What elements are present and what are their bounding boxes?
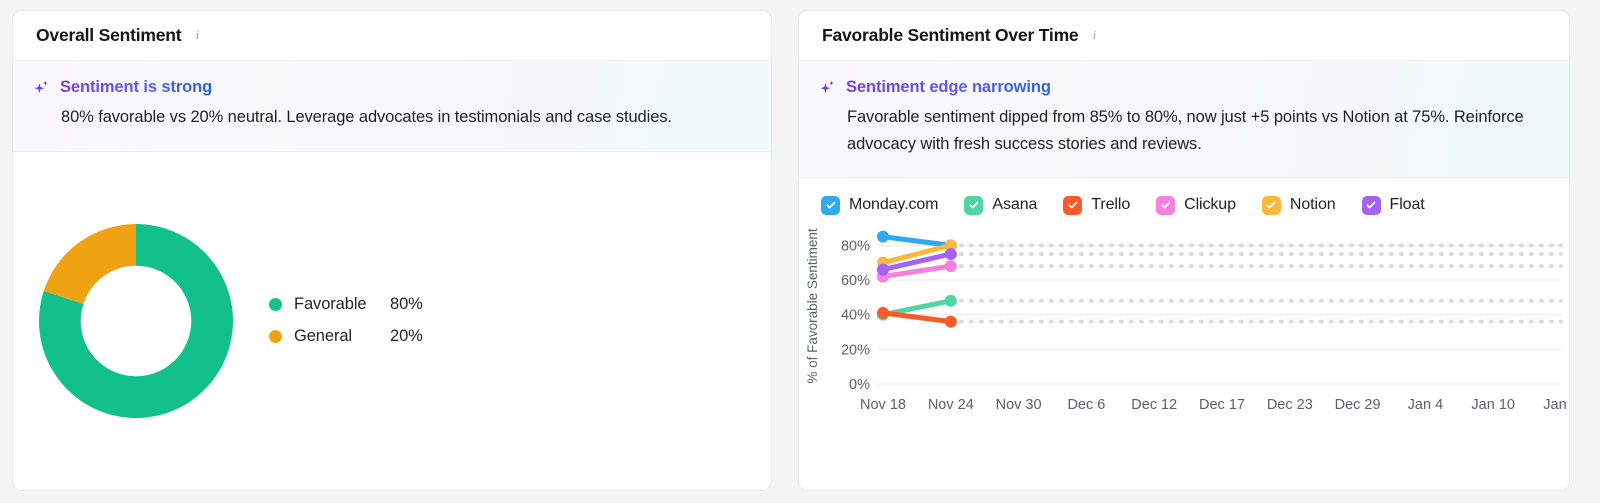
dashboard-page: Overall Sentiment i Sentiment is strong … bbox=[0, 0, 1600, 503]
x-tick-label: Nov 18 bbox=[860, 397, 906, 413]
checkbox-icon[interactable] bbox=[1362, 196, 1381, 215]
donut-chart[interactable] bbox=[39, 224, 233, 418]
sparkle-icon bbox=[819, 80, 836, 100]
y-axis-label: % of Favorable Sentiment bbox=[805, 229, 820, 385]
series-clickup[interactable] bbox=[877, 261, 1561, 283]
x-tick-label: Dec 23 bbox=[1267, 397, 1313, 413]
line-chart-area: Monday.comAsanaTrelloClickupNotionFloat … bbox=[799, 178, 1569, 490]
insight-body: Sentiment edge narrowing Favorable senti… bbox=[846, 78, 1546, 157]
series-trello[interactable] bbox=[877, 307, 1561, 328]
x-tick-label: Jan 10 bbox=[1471, 397, 1515, 413]
legend-label: Trello bbox=[1091, 196, 1130, 214]
x-tick-label: Jan 4 bbox=[1408, 397, 1443, 413]
legend-swatch-favorable bbox=[269, 298, 282, 311]
info-icon[interactable]: i bbox=[1087, 28, 1101, 42]
legend-item-float[interactable]: Float bbox=[1362, 196, 1425, 215]
insight-text: 80% favorable vs 20% neutral. Leverage a… bbox=[60, 104, 748, 131]
legend-item-clickup[interactable]: Clickup bbox=[1156, 196, 1236, 215]
insight-body: Sentiment is strong 80% favorable vs 20%… bbox=[60, 78, 748, 131]
legend-item-monday-com[interactable]: Monday.com bbox=[821, 196, 938, 215]
x-tick-label: Dec 12 bbox=[1131, 397, 1177, 413]
insight-banner-favorable: Sentiment edge narrowing Favorable senti… bbox=[799, 61, 1569, 178]
favorable-sentiment-over-time-card: Favorable Sentiment Over Time i Sentimen… bbox=[798, 10, 1570, 491]
series-asana[interactable] bbox=[877, 295, 1561, 321]
legend-label-general: General bbox=[294, 327, 390, 346]
checkbox-icon[interactable] bbox=[821, 196, 840, 215]
list-item[interactable]: General 20% bbox=[269, 327, 423, 346]
x-tick-label: Nov 30 bbox=[996, 397, 1042, 413]
info-icon[interactable]: i bbox=[190, 28, 204, 42]
checkbox-icon[interactable] bbox=[1063, 196, 1082, 215]
insight-title: Sentiment edge narrowing bbox=[846, 78, 1051, 97]
checkbox-icon[interactable] bbox=[1262, 196, 1281, 215]
y-tick-label: 60% bbox=[841, 273, 870, 289]
insight-banner-overall: Sentiment is strong 80% favorable vs 20%… bbox=[13, 61, 771, 152]
legend-label-favorable: Favorable bbox=[294, 295, 390, 314]
legend-item-asana[interactable]: Asana bbox=[964, 196, 1037, 215]
card-header-overall-sentiment: Overall Sentiment i bbox=[13, 11, 771, 61]
donut-slice-general[interactable] bbox=[44, 224, 136, 304]
insight-title: Sentiment is strong bbox=[60, 78, 212, 97]
y-tick-label: 40% bbox=[841, 308, 870, 324]
list-item[interactable]: Favorable 80% bbox=[269, 295, 423, 314]
x-tick-label: Jan 1 bbox=[1543, 397, 1570, 413]
y-tick-label: 0% bbox=[849, 377, 870, 393]
legend-label: Clickup bbox=[1184, 196, 1236, 214]
x-tick-label: Dec 6 bbox=[1067, 397, 1105, 413]
series-monday-com[interactable] bbox=[877, 231, 1561, 252]
legend-item-notion[interactable]: Notion bbox=[1262, 196, 1336, 215]
x-tick-label: Dec 17 bbox=[1199, 397, 1245, 413]
page-title: Overall Sentiment bbox=[36, 25, 181, 46]
overall-sentiment-card: Overall Sentiment i Sentiment is strong … bbox=[12, 10, 772, 491]
data-point[interactable] bbox=[877, 307, 889, 319]
data-point[interactable] bbox=[945, 295, 957, 307]
y-tick-label: 80% bbox=[841, 239, 870, 255]
checkbox-icon[interactable] bbox=[964, 196, 983, 215]
legend-swatch-general bbox=[269, 330, 282, 343]
page-title: Favorable Sentiment Over Time bbox=[822, 25, 1078, 46]
data-point[interactable] bbox=[945, 316, 957, 328]
donut-legend: Favorable 80% General 20% bbox=[269, 295, 423, 346]
card-header-favorable-sentiment: Favorable Sentiment Over Time i bbox=[799, 11, 1569, 61]
sparkle-icon bbox=[33, 80, 50, 100]
legend-item-trello[interactable]: Trello bbox=[1063, 196, 1130, 215]
legend-value-favorable: 80% bbox=[390, 295, 423, 314]
legend-label: Float bbox=[1390, 196, 1425, 214]
overall-sentiment-chart-body: Favorable 80% General 20% bbox=[13, 152, 771, 490]
legend-label: Notion bbox=[1290, 196, 1336, 214]
data-point[interactable] bbox=[945, 261, 957, 273]
line-chart[interactable]: % of Favorable Sentiment0%20%40%60%80%No… bbox=[799, 214, 1570, 424]
legend-value-general: 20% bbox=[390, 327, 423, 346]
legend-label: Asana bbox=[992, 196, 1037, 214]
data-point[interactable] bbox=[945, 248, 957, 260]
insight-text: Favorable sentiment dipped from 85% to 8… bbox=[846, 104, 1546, 157]
legend-label: Monday.com bbox=[849, 196, 938, 214]
series-float[interactable] bbox=[877, 248, 1561, 276]
series-line bbox=[883, 237, 951, 246]
x-tick-label: Dec 29 bbox=[1335, 397, 1381, 413]
data-point[interactable] bbox=[877, 264, 889, 276]
checkbox-icon[interactable] bbox=[1156, 196, 1175, 215]
y-tick-label: 20% bbox=[841, 343, 870, 359]
donut-chart-wrapper: Favorable 80% General 20% bbox=[13, 152, 771, 490]
data-point[interactable] bbox=[877, 231, 889, 243]
x-tick-label: Nov 24 bbox=[928, 397, 974, 413]
favorable-sentiment-chart-body: Monday.comAsanaTrelloClickupNotionFloat … bbox=[799, 178, 1569, 490]
